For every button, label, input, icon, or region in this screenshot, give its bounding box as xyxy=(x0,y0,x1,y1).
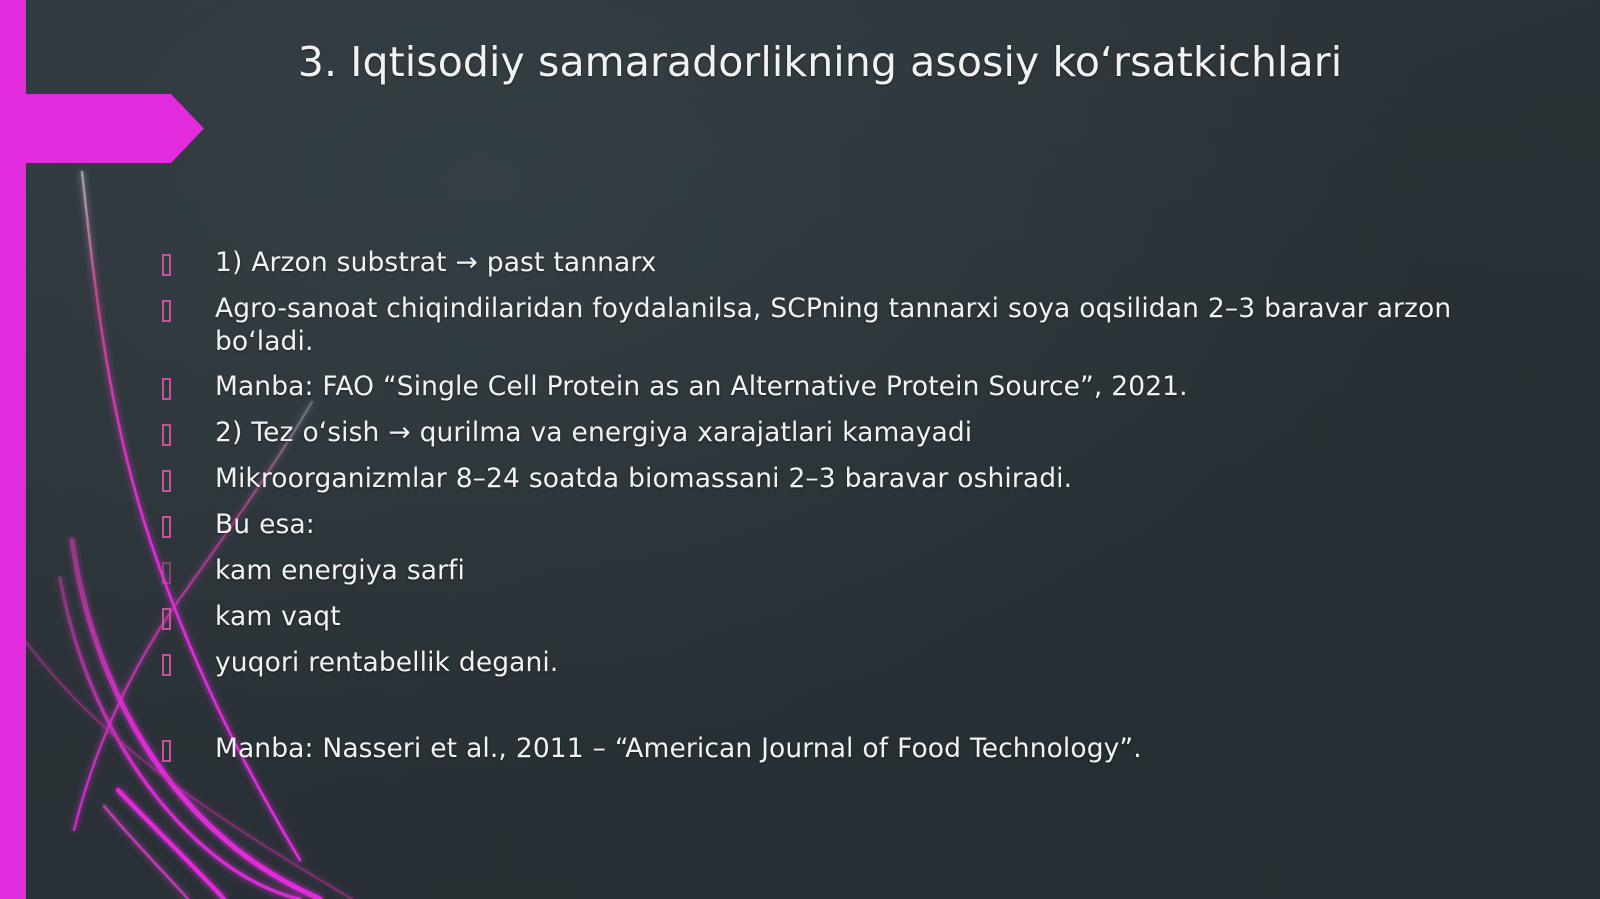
list-item-text: Manba: Nasseri et al., 2011 – “American … xyxy=(215,732,1452,765)
list-item-text: kam energiya sarfi xyxy=(215,554,1452,587)
list-item-text: yuqori rentabellik degani. xyxy=(215,646,1452,679)
list-item: 2) Tez o‘sish → qurilma va energiya xara… xyxy=(162,416,1452,450)
list-item: Manba: FAO “Single Cell Protein as an Al… xyxy=(162,370,1452,404)
bullet-marker-icon xyxy=(162,646,215,680)
list-item: Agro-sanoat chiqindilaridan foydalanilsa… xyxy=(162,292,1452,358)
bullet-marker-icon xyxy=(162,370,215,404)
bullet-marker-icon xyxy=(162,292,215,326)
slide-title: 3. Iqtisodiy samaradorlikning asosiy ko‘… xyxy=(120,38,1520,86)
bullet-marker-icon xyxy=(162,246,215,280)
list-item: kam energiya sarfi xyxy=(162,554,1452,588)
list-item-text: 2) Tez o‘sish → qurilma va energiya xara… xyxy=(215,416,1452,449)
list-item-text: 1) Arzon substrat → past tannarx xyxy=(215,246,1452,279)
list-item: Mikroorganizmlar 8–24 soatda biomassani … xyxy=(162,462,1452,496)
presentation-slide: 3. Iqtisodiy samaradorlikning asosiy ko‘… xyxy=(0,0,1600,899)
list-item-text: Mikroorganizmlar 8–24 soatda biomassani … xyxy=(215,462,1452,495)
list-item: Manba: Nasseri et al., 2011 – “American … xyxy=(162,732,1452,766)
list-item: Bu esa: xyxy=(162,508,1452,542)
bullet-list: 1) Arzon substrat → past tannarx Agro-sa… xyxy=(162,246,1452,778)
bullet-marker-icon xyxy=(162,508,215,542)
bullet-marker-icon xyxy=(162,732,215,766)
list-item-text: kam vaqt xyxy=(215,600,1452,633)
bullet-marker-icon xyxy=(162,462,215,496)
list-item: kam vaqt xyxy=(162,600,1452,634)
list-item-text: Agro-sanoat chiqindilaridan foydalanilsa… xyxy=(215,292,1452,358)
bullet-marker-icon xyxy=(162,416,215,450)
list-item: yuqori rentabellik degani. xyxy=(162,646,1452,680)
bullet-marker-icon xyxy=(162,600,215,634)
list-item-text: Manba: FAO “Single Cell Protein as an Al… xyxy=(215,370,1452,403)
list-item: 1) Arzon substrat → past tannarx xyxy=(162,246,1452,280)
bullet-marker-icon xyxy=(162,554,215,588)
list-item-text: Bu esa: xyxy=(215,508,1452,541)
